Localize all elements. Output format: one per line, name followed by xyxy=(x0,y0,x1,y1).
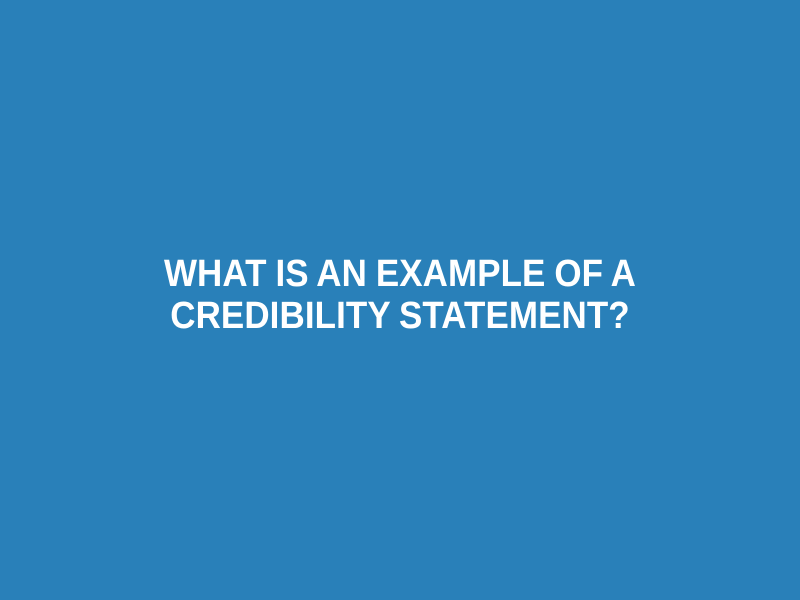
page-title: WHAT IS AN EXAMPLE OF A CREDIBILITY STAT… xyxy=(96,253,703,337)
article-header-banner: WHAT IS AN EXAMPLE OF A CREDIBILITY STAT… xyxy=(0,0,800,600)
headline-container: WHAT IS AN EXAMPLE OF A CREDIBILITY STAT… xyxy=(70,253,730,337)
